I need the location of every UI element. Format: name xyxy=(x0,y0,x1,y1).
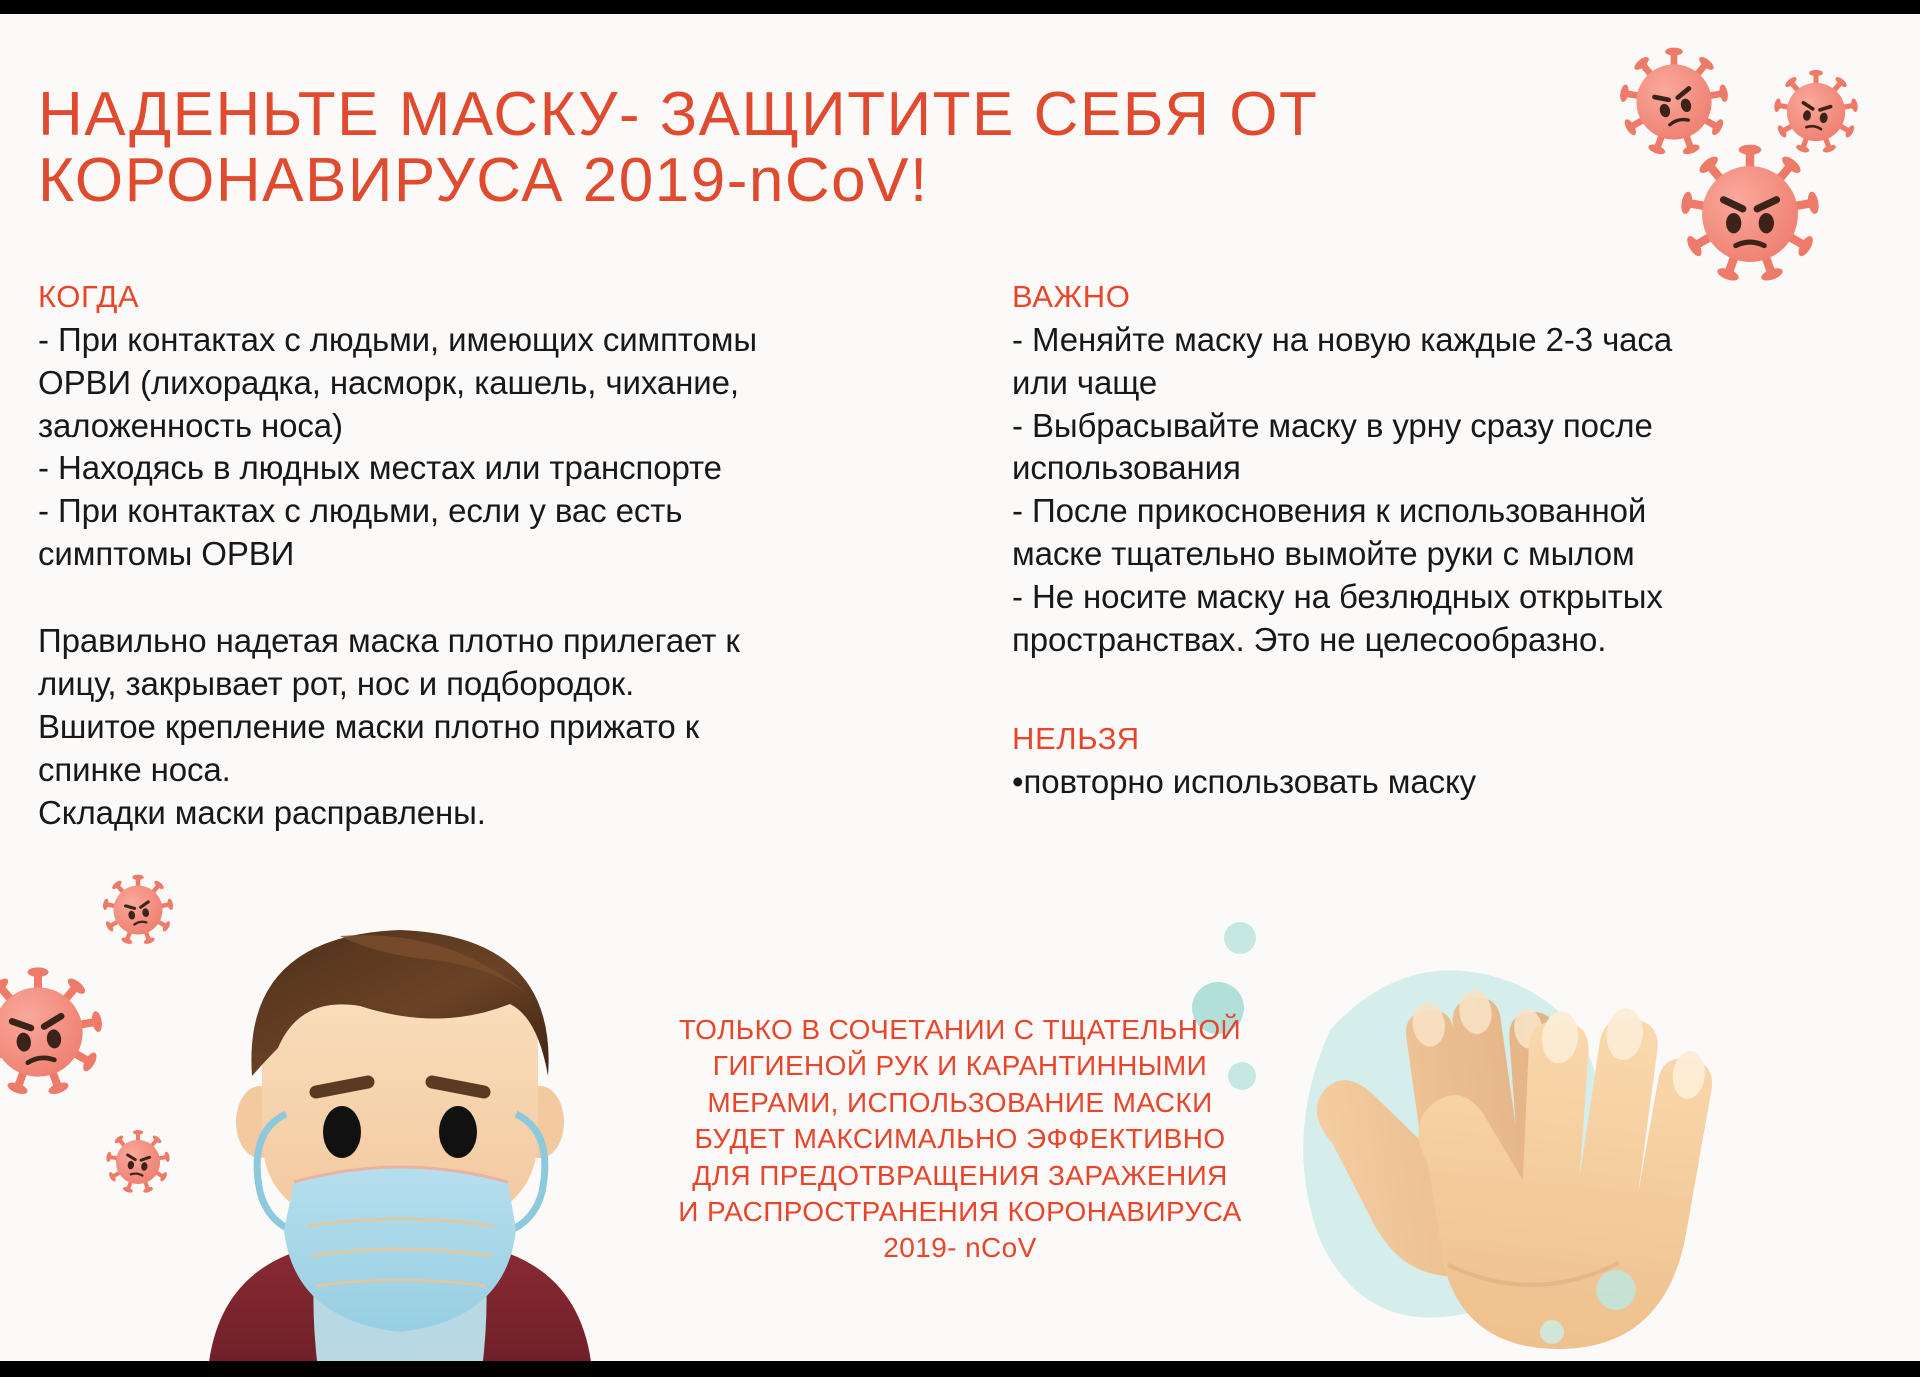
virus-particle-icon xyxy=(1680,145,1821,283)
letterbox-bar-bottom xyxy=(0,1361,1920,1377)
virus-particle-icon xyxy=(102,875,174,946)
right-column: ВАЖНО - Меняйте маску на новую каждые 2-… xyxy=(1012,278,1892,804)
poster-canvas: НАДЕНЬТЕ МАСКУ- ЗАЩИТИТЕ СЕБЯ ОТ КОРОНАВ… xyxy=(0,0,1920,1377)
forbidden-list: •повторно использовать маску xyxy=(1012,761,1892,804)
virus-particle-icon xyxy=(1773,70,1858,154)
section-heading-important: ВАЖНО xyxy=(1012,278,1892,317)
eye-right xyxy=(439,1106,477,1158)
section-heading-when: КОГДА xyxy=(38,278,798,317)
left-column: КОГДА - При контактах с людьми, имеющих … xyxy=(38,278,798,835)
virus-cluster-top-right-icon xyxy=(1602,28,1902,288)
section-heading-forbidden: НЕЛЬЗЯ xyxy=(1012,720,1892,759)
eye-left xyxy=(323,1106,361,1158)
spacer xyxy=(38,576,798,620)
letterbox-bar-top xyxy=(0,0,1920,14)
virus-particle-icon xyxy=(0,967,103,1096)
virus-particle-icon xyxy=(106,1130,171,1194)
important-list: - Меняйте маску на новую каждые 2-3 часа… xyxy=(1012,319,1892,662)
virus-particle-icon xyxy=(1619,48,1729,157)
when-list: - При контактах с людьми, имеющих симпто… xyxy=(38,319,798,576)
spacer xyxy=(1012,662,1892,720)
page-title: НАДЕНЬТЕ МАСКУ- ЗАЩИТИТЕ СЕБЯ ОТ КОРОНАВ… xyxy=(38,82,1338,216)
man-with-mask-illustration xyxy=(190,900,610,1370)
bottom-caption: ТОЛЬКО В СОЧЕТАНИИ С ТЩАТЕЛЬНОЙ ГИГИЕНОЙ… xyxy=(640,1012,1280,1267)
correct-mask-paragraph: Правильно надетая маска плотно прилегает… xyxy=(38,620,798,834)
